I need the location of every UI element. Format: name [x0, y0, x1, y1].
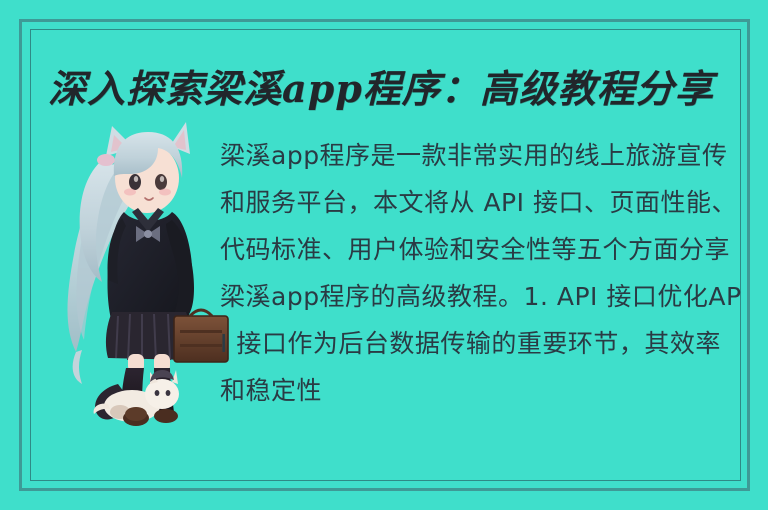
head — [114, 132, 184, 213]
catgirl-illustration — [62, 116, 230, 428]
article-banner: 深入探索梁溪app程序：高级教程分享 — [0, 0, 768, 510]
article-body-text: 梁溪app程序是一款非常实用的线上旅游宣传和服务平台，本文将从 API 接口、页… — [220, 132, 744, 414]
page-title: 深入探索梁溪app程序：高级教程分享 — [48, 56, 720, 114]
